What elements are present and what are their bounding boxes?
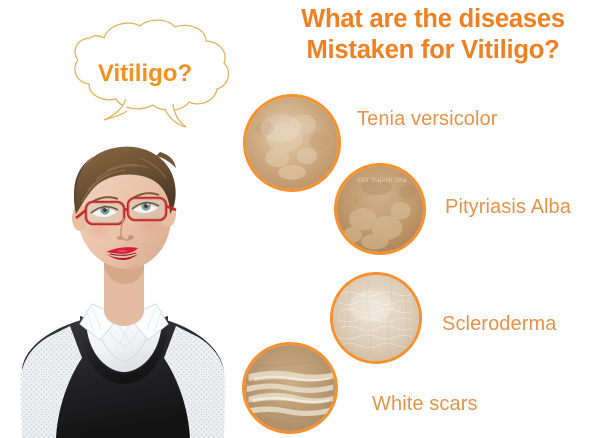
poster-canvas: What are the diseases Mistaken for Vitil… [0, 0, 616, 438]
speech-bubble-text: Vitiligo? [52, 60, 238, 88]
skin-texture-pityriasis-alba [337, 166, 423, 252]
skin-texture-scleroderma [333, 275, 419, 361]
condition-label-scleroderma: Scleroderma [442, 313, 556, 336]
lesion-circle-tenia-versicolor [243, 94, 341, 192]
skin-texture-white-scars [245, 345, 335, 431]
woman-illustration [0, 118, 244, 438]
lesion-circle-white-scars [242, 342, 338, 434]
page-title: What are the diseases Mistaken for Vitil… [258, 4, 608, 66]
title-line-2: Mistaken for Vitiligo? [258, 35, 608, 66]
lesion-circle-scleroderma [330, 272, 422, 364]
title-line-1: What are the diseases [258, 4, 608, 35]
speech-bubble: Vitiligo? [52, 16, 238, 134]
condition-label-white-scars: White scars [372, 393, 478, 416]
condition-label-pityriasis-alba: Pityriasis Alba [445, 196, 571, 219]
woman-photo [0, 118, 244, 438]
skin-texture-tenia-versicolor [246, 97, 338, 189]
condition-label-tenia-versicolor: Tenia versicolor [357, 108, 498, 131]
lesion-circle-pityriasis-alba: ©Dr Rajesh Sha [334, 163, 426, 255]
